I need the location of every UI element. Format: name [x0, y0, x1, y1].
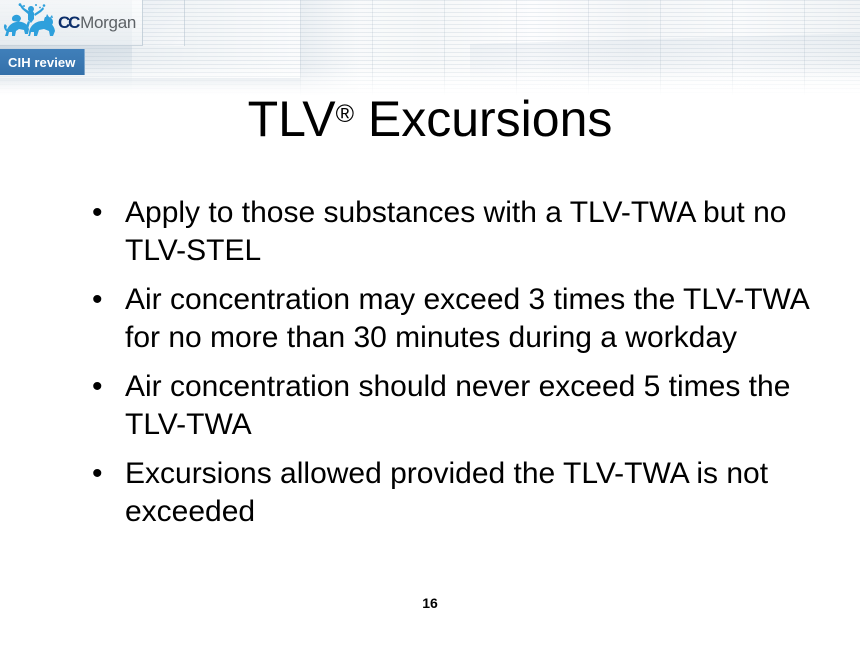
bullet-marker-icon: •: [92, 194, 112, 232]
list-item: • Apply to those substances with a TLV-T…: [88, 194, 828, 270]
company-logo: CCMorgan: [0, 0, 143, 46]
slide-header-banner: CCMorgan CIH review: [0, 0, 860, 100]
bullet-marker-icon: •: [92, 368, 112, 406]
list-item: • Air concentration should never exceed …: [88, 368, 828, 444]
bullet-text: Air concentration may exceed 3 times the…: [125, 281, 828, 357]
slide-title-main: TLV: [248, 91, 336, 147]
logo-wordmark-cc: CC: [58, 13, 78, 32]
page-number: 16: [0, 595, 860, 611]
presentation-slide: CCMorgan CIH review TLV® Excursions • Ap…: [0, 0, 860, 650]
bullet-marker-icon: •: [92, 281, 112, 319]
section-tag-badge: CIH review: [0, 49, 85, 75]
bullet-text: Air concentration should never exceed 5 …: [125, 368, 828, 444]
company-logo-wordmark: CCMorgan: [58, 14, 136, 31]
bullet-text: Apply to those substances with a TLV-TWA…: [125, 194, 828, 270]
slide-bullet-list: • Apply to those substances with a TLV-T…: [88, 194, 828, 531]
bullet-marker-icon: •: [92, 455, 112, 493]
section-tag-label: CIH review: [8, 56, 75, 69]
bullet-text: Excursions allowed provided the TLV-TWA …: [125, 455, 828, 531]
slide-title: TLV® Excursions: [0, 92, 860, 146]
list-item: • Excursions allowed provided the TLV-TW…: [88, 455, 828, 531]
logo-wordmark-morgan: Morgan: [80, 13, 136, 32]
list-item: • Air concentration may exceed 3 times t…: [88, 281, 828, 357]
slide-title-rest: Excursions: [354, 91, 612, 147]
cc-morgan-lion-rider-icon: [3, 3, 57, 43]
registered-trademark-symbol: ®: [336, 100, 354, 128]
